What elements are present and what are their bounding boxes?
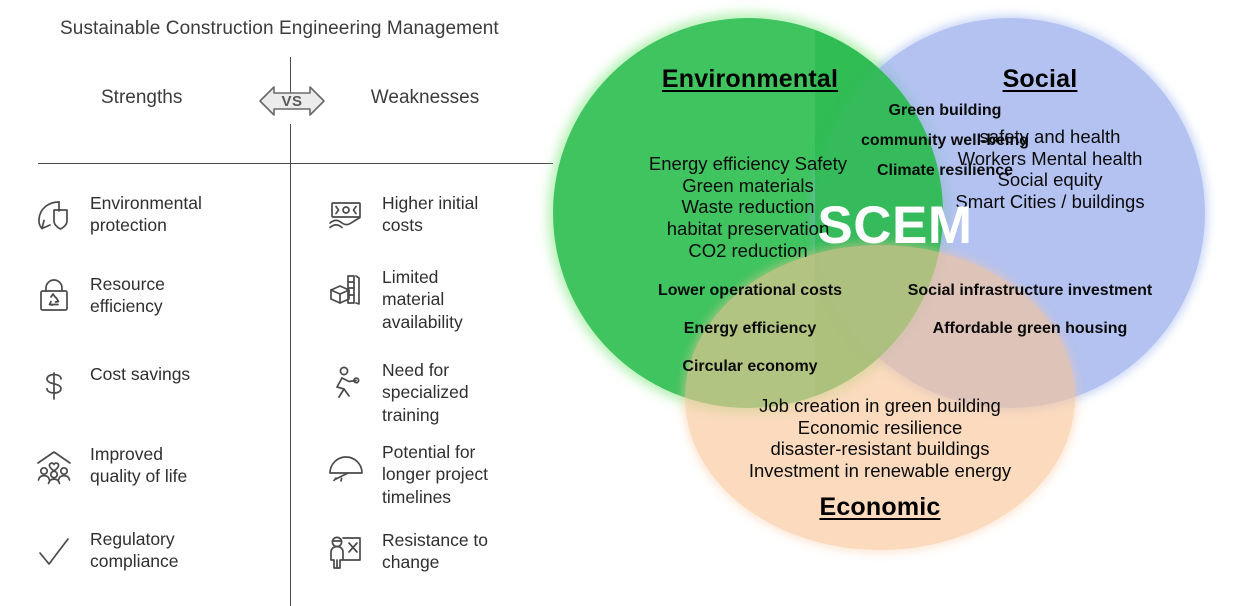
list-item-label: Higher initialcosts <box>382 191 478 237</box>
list-item-label: Limitedmaterialavailability <box>382 265 463 333</box>
venn-overlap-item: Green building <box>735 103 1155 119</box>
list-item-label: Environmentalprotection <box>90 191 202 237</box>
venn-title-environmental: Environmental <box>600 65 900 94</box>
list-item-label: Cost savings <box>90 362 190 385</box>
venn-diagram: Environmental Social Economic Energy eff… <box>540 0 1255 606</box>
list-item-label: Improvedquality of life <box>90 442 187 488</box>
lock-recycle-icon <box>30 272 78 320</box>
venn-item: Investment in renewable energy <box>680 460 1080 482</box>
vs-label: VS <box>258 79 326 123</box>
checkmark-icon <box>30 527 78 575</box>
list-item[interactable]: Cost savings <box>30 362 280 410</box>
venn-item: Job creation in green building <box>680 395 1080 417</box>
venn-center-label: SCEM <box>765 199 1025 252</box>
venn-item: disaster-resistant buildings <box>680 438 1080 460</box>
venn-items-economic: Job creation in green building Economic … <box>680 395 1080 482</box>
vs-badge: VS <box>258 79 326 123</box>
person-x-board-icon <box>322 528 370 576</box>
venn-overlap-item: Affordable green housing <box>850 321 1210 337</box>
list-item[interactable]: Regulatorycompliance <box>30 527 280 575</box>
venn-overlap-item: community well-being <box>735 133 1155 149</box>
venn-title-economic: Economic <box>720 493 1040 522</box>
money-in-hand-icon <box>322 191 370 239</box>
venn-overlap-item: Climate resilience <box>735 163 1155 179</box>
venn-item: Economic resilience <box>680 417 1080 439</box>
house-heart-family-icon <box>30 442 78 490</box>
list-item-label: Resourceefficiency <box>90 272 165 318</box>
slide-canvas: Sustainable Construction Engineering Man… <box>0 0 1255 606</box>
venn-title-social: Social <box>890 65 1190 94</box>
list-item[interactable]: Limitedmaterialavailability <box>322 265 557 333</box>
dollar-sign-icon <box>30 362 78 410</box>
venn-overlap-environmental-social: Green building community well-being Clim… <box>735 103 1155 193</box>
list-item[interactable]: Resourceefficiency <box>30 272 280 320</box>
list-item-label: Regulatorycompliance <box>90 527 179 573</box>
list-item[interactable]: Need forspecializedtraining <box>322 358 557 426</box>
list-item-label: Resistance tochange <box>382 528 488 574</box>
divider-horizontal <box>38 163 553 164</box>
list-item[interactable]: Resistance tochange <box>322 528 557 576</box>
page-title: Sustainable Construction Engineering Man… <box>60 18 499 40</box>
boxes-ladder-icon <box>322 265 370 313</box>
list-item-label: Need forspecializedtraining <box>382 358 469 426</box>
list-item-label: Potential forlonger projecttimelines <box>382 440 488 508</box>
list-item[interactable]: Potential forlonger projecttimelines <box>322 440 557 508</box>
divider-vertical-main <box>290 124 291 606</box>
list-item[interactable]: Higher initialcosts <box>322 191 557 239</box>
list-item[interactable]: Environmentalprotection <box>30 191 280 239</box>
person-training-icon <box>322 358 370 406</box>
swot-panel: Sustainable Construction Engineering Man… <box>0 0 560 606</box>
column-header-weaknesses: Weaknesses <box>371 87 479 109</box>
list-item[interactable]: Improvedquality of life <box>30 442 280 490</box>
column-header-strengths: Strengths <box>101 87 182 109</box>
gauge-icon <box>322 440 370 488</box>
leaf-shield-icon <box>30 191 78 239</box>
venn-overlap-social-economic: Social infrastructure investment Afforda… <box>850 283 1210 359</box>
venn-overlap-item: Social infrastructure investment <box>850 283 1210 299</box>
venn-overlap-item: Circular economy <box>580 359 920 375</box>
